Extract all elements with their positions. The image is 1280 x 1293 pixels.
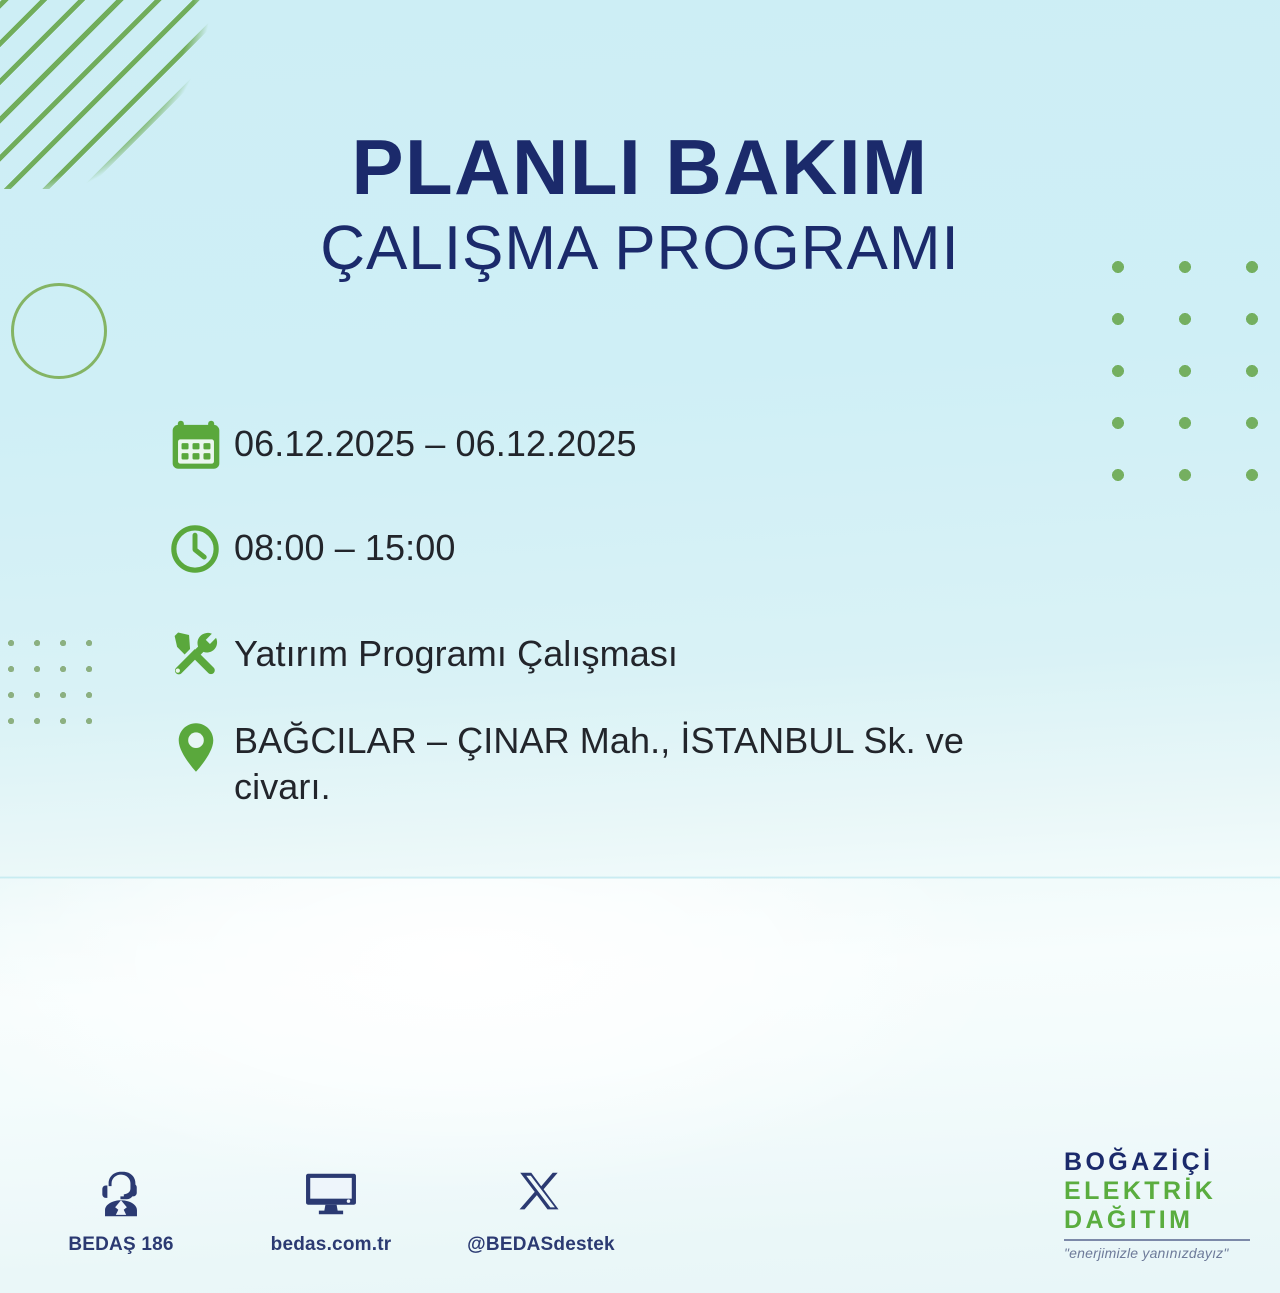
work-type-value: Yatırım Programı Çalışması	[234, 622, 678, 677]
support-agent-icon	[94, 1163, 148, 1225]
maintenance-details-list: 06.12.2025 – 06.12.2025 08:00 – 15:00	[168, 412, 1088, 830]
planned-maintenance-poster: PLANLI BAKIM ÇALIŞMA PROGRAMI	[0, 0, 1280, 1293]
location-pin-icon	[168, 714, 234, 780]
time-range-value: 08:00 – 15:00	[234, 516, 456, 571]
contact-website-label: bedas.com.tr	[271, 1234, 392, 1256]
logo-divider	[1064, 1239, 1250, 1241]
title-primary: PLANLI BAKIM	[0, 128, 1280, 206]
background-seam-divider	[0, 876, 1280, 879]
contact-x-account[interactable]: @BEDASdestek	[466, 1163, 616, 1256]
clock-icon	[168, 516, 234, 582]
calendar-icon	[168, 412, 234, 478]
left-dot-grid-decoration	[8, 640, 100, 744]
logo-tagline: "enerjimizle yanınızdayız"	[1064, 1245, 1264, 1261]
date-range-value: 06.12.2025 – 06.12.2025	[234, 412, 637, 467]
contact-x-label: @BEDASdestek	[467, 1234, 615, 1256]
logo-line-bogazici: BOĞAZİÇİ	[1064, 1148, 1264, 1177]
footer-contact-bar: BEDAŞ 186 bedas.com.tr	[46, 1163, 616, 1256]
x-twitter-icon	[515, 1163, 567, 1225]
right-dot-grid-decoration	[1112, 261, 1264, 486]
bedas-logo: BOĞAZİÇİ ELEKTRİK DAĞITIM "enerjimizle y…	[1064, 1148, 1264, 1261]
detail-row-location: BAĞCILAR – ÇINAR Mah., İSTANBUL Sk. ve c…	[168, 714, 1088, 810]
detail-row-time: 08:00 – 15:00	[168, 516, 1088, 582]
monitor-icon	[303, 1163, 359, 1225]
circle-outline-decoration	[11, 283, 107, 379]
contact-website[interactable]: bedas.com.tr	[256, 1163, 406, 1256]
detail-row-date: 06.12.2025 – 06.12.2025	[168, 412, 1088, 478]
location-value: BAĞCILAR – ÇINAR Mah., İSTANBUL Sk. ve c…	[234, 714, 1034, 810]
tools-icon	[168, 622, 234, 688]
contact-phone[interactable]: BEDAŞ 186	[46, 1163, 196, 1256]
logo-line-dagitim: DAĞITIM	[1064, 1206, 1264, 1235]
page-title: PLANLI BAKIM ÇALIŞMA PROGRAMI	[0, 128, 1280, 280]
contact-phone-label: BEDAŞ 186	[68, 1234, 173, 1256]
detail-row-work-type: Yatırım Programı Çalışması	[168, 622, 1088, 688]
logo-line-elektrik: ELEKTRİK	[1064, 1177, 1264, 1206]
title-secondary: ÇALIŞMA PROGRAMI	[0, 218, 1280, 280]
